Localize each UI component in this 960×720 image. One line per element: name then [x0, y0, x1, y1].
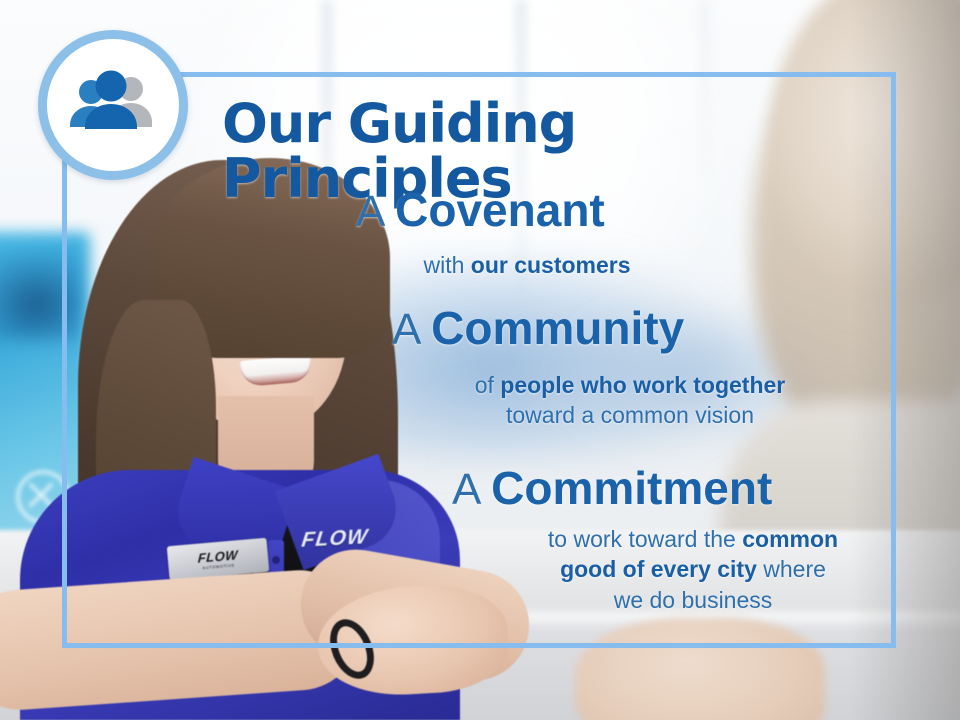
text-block: Our Guiding Principles A Covenant with o… — [0, 0, 960, 720]
principle-1-sub-plain: with — [423, 252, 470, 278]
banner-canvas: FLOW AUTOMOTIVE FLOW Our Guiding Princip… — [0, 0, 960, 720]
principle-2-article: A — [392, 305, 431, 354]
principle-1-article: A — [356, 187, 395, 236]
principle-3-sub-line-1: to work toward the common — [548, 526, 838, 552]
principle-2-sub-bold: people who work together — [500, 372, 785, 398]
principle-3-subtext: to work toward the common good of every … — [508, 524, 878, 615]
principle-1-headline: A Covenant — [356, 186, 605, 235]
principle-2-sub-plain-2: toward a common vision — [506, 402, 754, 428]
principle-3-sub-line-2: good of every city where — [560, 556, 826, 582]
principle-1-sub-bold: our customers — [471, 252, 631, 278]
principle-3-headline: A Commitment — [452, 464, 772, 513]
principle-2-keyword: Community — [431, 302, 684, 354]
principle-3-article: A — [452, 465, 491, 514]
principle-3-sub-line-3: we do business — [614, 587, 773, 613]
principle-1-subtext: with our customers — [392, 250, 662, 280]
principle-2-sub-plain-1: of — [475, 372, 501, 398]
principle-3-keyword: Commitment — [491, 462, 772, 514]
principle-2-subtext: of people who work together toward a com… — [440, 370, 820, 431]
principle-1-keyword: Covenant — [395, 184, 605, 236]
principle-2-headline: A Community — [392, 304, 684, 353]
